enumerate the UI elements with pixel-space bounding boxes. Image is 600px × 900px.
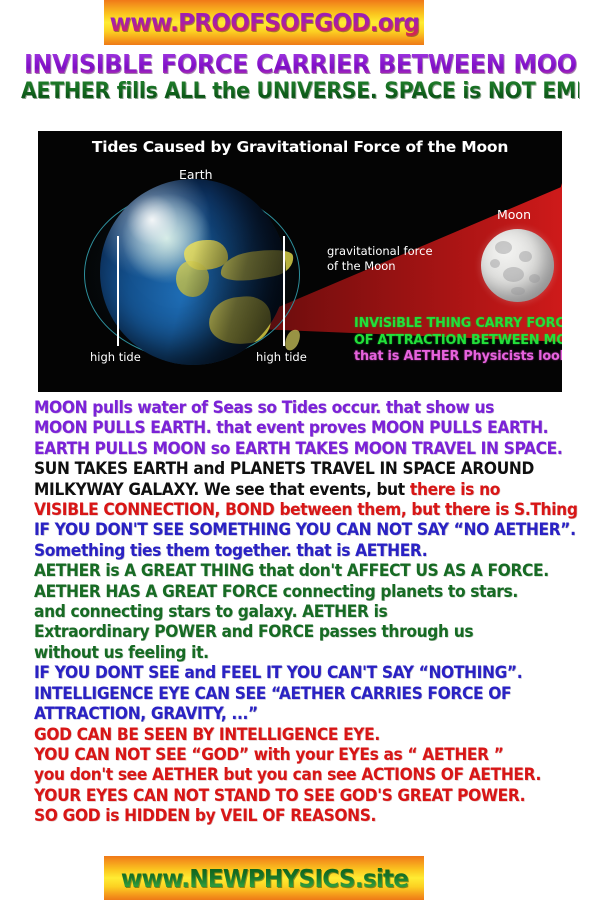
moon-globe <box>481 229 554 302</box>
body-line: AETHER HAS A GREAT FORCE connecting plan… <box>34 582 563 602</box>
body-line: INTELLIGENCE EYE CAN SEE “AETHER CARRIES… <box>34 684 563 704</box>
overlay-line-2: OF ATTRACTION BETWEEN MOON - EARTH <box>354 332 562 349</box>
tide-indicator-line-right <box>283 236 285 346</box>
aether-overlay-annotation: INViSiBLE THING CARRY FORCE OF ATTRACTIO… <box>354 315 562 365</box>
body-text-block: MOON pulls water of Seas so Tides occur.… <box>34 398 600 827</box>
body-line-text: and connecting stars to galaxy. AETHER i… <box>34 602 387 621</box>
body-line: SO GOD is HIDDEN by VEIL OF REASONS. <box>34 806 563 826</box>
body-line-highlight: there is no <box>410 480 500 499</box>
body-line-text: without us feeling it. <box>34 643 209 662</box>
overlay-line-1: INViSiBLE THING CARRY FORCE <box>354 315 562 332</box>
body-line: GOD CAN BE SEEN BY INTELLIGENCE EYE. <box>34 725 563 745</box>
landmass-africa-icon <box>176 261 209 297</box>
landmass-australia-icon <box>207 294 274 347</box>
tide-label-right: high tide <box>256 350 307 364</box>
body-line: AETHER is A GREAT THING that don't AFFEC… <box>34 561 563 581</box>
tides-illustration: Tides Caused by Gravitational Force of t… <box>38 131 562 392</box>
earth-label: Earth <box>179 167 213 182</box>
body-line: YOU CAN NOT SEE “GOD” with your EYEs as … <box>34 745 563 765</box>
body-line-text: AETHER is A GREAT THING that don't AFFEC… <box>34 561 549 580</box>
page-subtitle: AETHER fills ALL the UNIVERSE. SPACE is … <box>21 81 579 103</box>
tide-indicator-line-left <box>117 236 119 346</box>
body-line-text: ATTRACTION, GRAVITY, ...” <box>34 704 258 723</box>
illustration-title: Tides Caused by Gravitational Force of t… <box>38 138 562 156</box>
top-banner-label: www.PROOFSOFGOD.org <box>109 8 419 37</box>
moon-crater-icon <box>519 251 532 262</box>
gravitational-force-label-line2: of the Moon <box>327 259 433 274</box>
moon-crater-icon <box>495 241 512 254</box>
moon-crater-icon <box>490 259 500 268</box>
body-line-text: EARTH PULLS MOON so EARTH TAKES MOON TRA… <box>34 439 562 458</box>
body-line: ATTRACTION, GRAVITY, ...” <box>34 704 563 724</box>
gravitational-force-label: gravitational force of the Moon <box>327 244 433 275</box>
body-line-text: VISIBLE CONNECTION, BOND between them, b… <box>34 500 578 519</box>
moon-crater-icon <box>529 274 540 283</box>
moon-label: Moon <box>497 207 531 222</box>
body-line: IF YOU DON'T SEE SOMETHING YOU CAN NOT S… <box>34 520 563 540</box>
bottom-banner-label: www.NEWPHYSICS.site <box>120 864 407 893</box>
bottom-banner[interactable]: www.NEWPHYSICS.site <box>104 856 424 900</box>
body-line: without us feeling it. <box>34 643 563 663</box>
body-line: EARTH PULLS MOON so EARTH TAKES MOON TRA… <box>34 439 563 459</box>
body-line: you don't see AETHER but you can see ACT… <box>34 765 563 785</box>
body-line: MOON PULLS EARTH. that event proves MOON… <box>34 418 563 438</box>
landmass-newzealand-icon <box>282 327 303 352</box>
top-banner[interactable]: www.PROOFSOFGOD.org <box>104 0 424 45</box>
body-line: VISIBLE CONNECTION, BOND between them, b… <box>34 500 563 520</box>
body-line: MOON pulls water of Seas so Tides occur.… <box>34 398 563 418</box>
body-line: Something ties them together. that is AE… <box>34 541 563 561</box>
body-line-text: IF YOU DON'T SEE SOMETHING YOU CAN NOT S… <box>34 520 576 539</box>
moon-crater-icon <box>511 287 525 295</box>
body-line-text: MOON PULLS EARTH. that event proves MOON… <box>34 418 548 437</box>
body-line: IF YOU DONT SEE and FEEL IT YOU CAN'T SA… <box>34 663 563 683</box>
body-line: YOUR EYES CAN NOT STAND TO SEE GOD'S GRE… <box>34 786 563 806</box>
body-line-text: INTELLIGENCE EYE CAN SEE “AETHER CARRIES… <box>34 684 511 703</box>
tide-label-left: high tide <box>90 350 141 364</box>
body-line-text: GOD CAN BE SEEN BY INTELLIGENCE EYE. <box>34 725 380 744</box>
body-line: and connecting stars to galaxy. AETHER i… <box>34 602 563 622</box>
body-line-text: IF YOU DONT SEE and FEEL IT YOU CAN'T SA… <box>34 663 522 682</box>
body-line-text: SUN TAKES EARTH and PLANETS TRAVEL IN SP… <box>34 459 534 478</box>
body-line-text: Extraordinary POWER and FORCE passes thr… <box>34 622 473 641</box>
earth-globe <box>100 179 286 365</box>
body-line-text: MOON pulls water of Seas so Tides occur.… <box>34 398 494 417</box>
body-line-text: YOU CAN NOT SEE “GOD” with your EYEs as … <box>34 745 504 764</box>
body-line-text: SO GOD is HIDDEN by VEIL OF REASONS. <box>34 806 376 825</box>
body-line-text: AETHER HAS A GREAT FORCE connecting plan… <box>34 582 518 601</box>
body-line: SUN TAKES EARTH and PLANETS TRAVEL IN SP… <box>34 459 563 479</box>
body-line-text: MILKYWAY GALAXY. We see that events, but <box>34 480 410 499</box>
headline-block: INVISIBLE FORCE CARRIER BETWEEN MOON and… <box>0 52 600 103</box>
body-line-text: YOUR EYES CAN NOT STAND TO SEE GOD'S GRE… <box>34 786 525 805</box>
body-line-text: you don't see AETHER but you can see ACT… <box>34 765 541 784</box>
body-line: MILKYWAY GALAXY. We see that events, but… <box>34 480 563 500</box>
overlay-line-3: that is AETHER Physicists looking for.. <box>354 348 562 365</box>
moon-crater-icon <box>503 267 524 282</box>
body-line-text: Something ties them together. that is AE… <box>34 541 427 560</box>
body-line: Extraordinary POWER and FORCE passes thr… <box>34 622 563 642</box>
page-title: INVISIBLE FORCE CARRIER BETWEEN MOON and… <box>24 52 576 78</box>
gravitational-force-label-line1: gravitational force <box>327 244 433 259</box>
